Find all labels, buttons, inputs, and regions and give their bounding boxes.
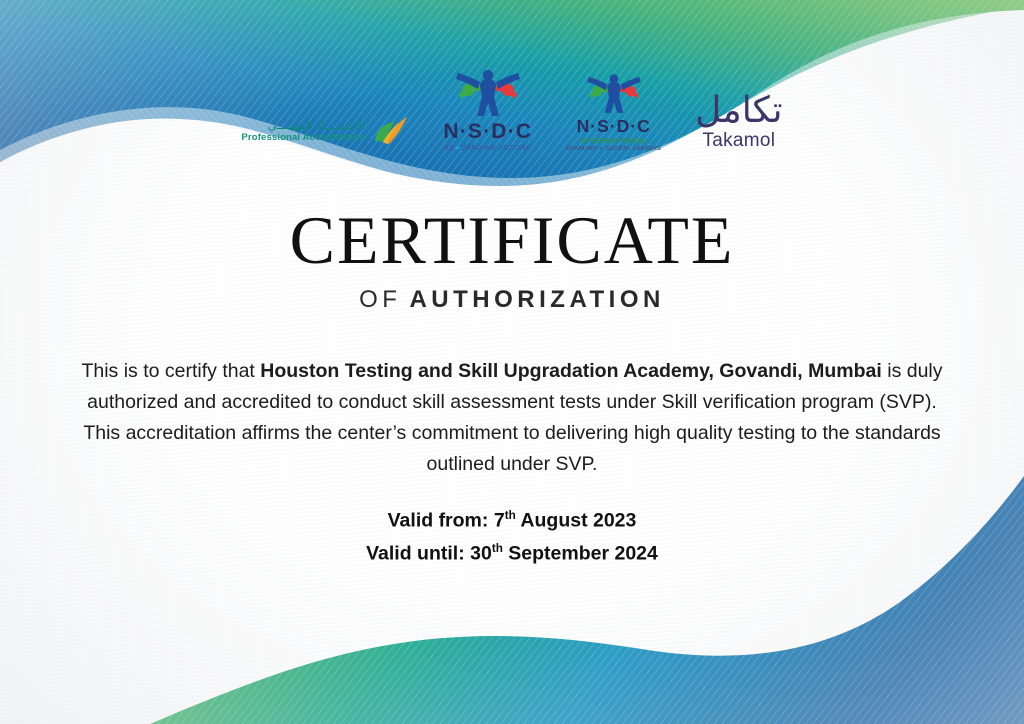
valid-until-line: Valid until: 30th September 2024 [0, 535, 1024, 568]
logo-professional-accreditation: الاعتمــــاد المهنــــي Professional Acc… [241, 114, 409, 152]
valid-until-ordinal: th [492, 542, 503, 555]
nsdc-wordmark: N·S·D·C [443, 121, 532, 142]
certificate-body: This is to certify that Houston Testing … [72, 356, 952, 480]
certificate-page: الاعتمــــاد المهنــــي Professional Acc… [0, 0, 1024, 724]
valid-until-label: Valid until: [366, 542, 465, 564]
body-line-3: This accreditation affirms the center’s … [72, 418, 952, 449]
subtitle-authorization: AUTHORIZATION [409, 286, 664, 313]
logo-nsdc-international: N·S·D·C – INTERNATIONAL – ENABLING ➢ GLO… [566, 72, 661, 153]
nsdc-tagline-post: IMAGINE FUTURE [462, 145, 532, 152]
nsdc-tagline-pre: RE [444, 145, 455, 152]
logo-nsdc: N·S·D·C RE➢IMAGINE FUTURE [443, 68, 532, 152]
nsdc-tagline: RE➢IMAGINE FUTURE [443, 144, 532, 152]
nsdc-figure-icon [451, 68, 525, 120]
body-line-4: outlined under SVP. [72, 449, 952, 480]
nsdc-international-label: – INTERNATIONAL – [566, 136, 661, 145]
body-line-2: authorized and accredited to conduct ski… [72, 387, 952, 418]
swoosh-icon [373, 114, 409, 148]
valid-from-label: Valid from: [388, 510, 489, 532]
nsdc-international-figure-icon [583, 72, 645, 117]
subtitle-of: OF [359, 286, 401, 313]
recipient-name: Houston Testing and Skill Upgradation Ac… [260, 360, 882, 382]
valid-from-ordinal: th [505, 509, 516, 522]
validity-block: Valid from: 7th August 2023 Valid until:… [0, 502, 1024, 567]
valid-from-rest: August 2023 [516, 510, 637, 532]
certificate-subtitle: OFAUTHORIZATION [0, 288, 1024, 312]
body-line-1-suffix: is duly [882, 360, 943, 382]
takamol-english-wordmark: Takamol [695, 131, 782, 150]
accreditation-arabic-label: الاعتمــــاد المهنــــي [241, 119, 365, 131]
certificate-title: CERTIFICATE [0, 206, 1024, 274]
wave-bottom-front [0, 460, 1024, 724]
nsdc-tagline-accent-icon: ➢ [455, 145, 462, 152]
body-line-1-prefix: This is to certify that [81, 360, 260, 382]
valid-from-day: 7 [494, 510, 505, 532]
logo-row: الاعتمــــاد المهنــــي Professional Acc… [0, 52, 1024, 152]
valid-until-day: 30 [470, 542, 492, 564]
logo-takamol: تكامل Takamol [695, 93, 782, 152]
accreditation-text: الاعتمــــاد المهنــــي Professional Acc… [241, 119, 365, 142]
title-block: CERTIFICATE OFAUTHORIZATION [0, 206, 1024, 312]
body-line-1: This is to certify that Houston Testing … [72, 356, 952, 387]
valid-until-rest: September 2024 [503, 542, 658, 564]
accreditation-english-label: Professional Accreditation [241, 133, 365, 143]
nsdc-international-wordmark: N·S·D·C [566, 118, 661, 136]
takamol-arabic-wordmark: تكامل [695, 93, 782, 129]
nsdc-international-sublabel: ENABLING ➢ GLOBAL CAREERS [566, 146, 661, 152]
valid-from-line: Valid from: 7th August 2023 [0, 502, 1024, 535]
